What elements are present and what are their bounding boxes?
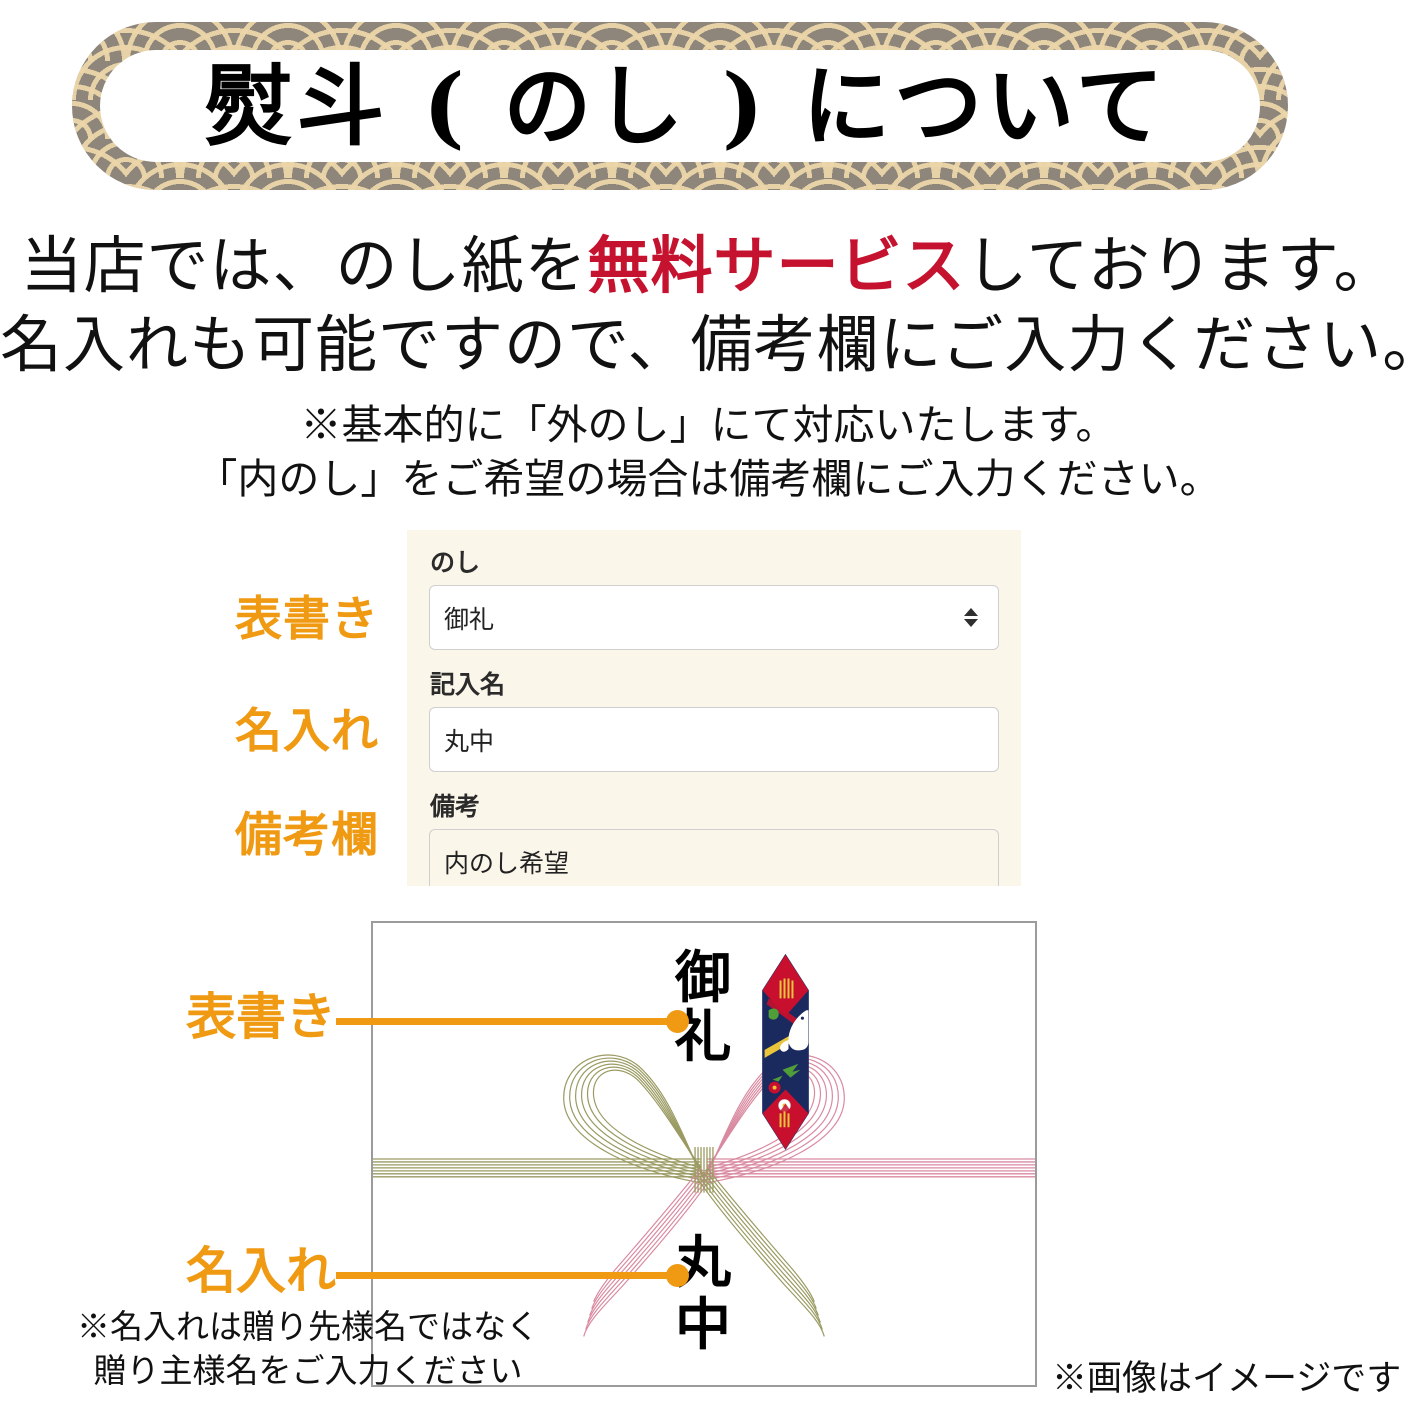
form-tag-bikou: 備考欄: [235, 812, 379, 859]
noshi-field-label: のし: [430, 548, 999, 578]
noshi-awabi-ornament: [763, 955, 809, 1149]
form-screenshot-clip: のし 御礼 記入名 丸中 備考 内のし希望: [0, 530, 1417, 886]
chevron-updown-icon: [962, 601, 980, 635]
bikou-textarea-value: 内のし希望: [444, 850, 569, 878]
callout-omotegaki-dot: [666, 1010, 689, 1033]
lead-paragraph: 当店では、のし紙を無料サービスしております。 名入れも可能ですので、備考欄にご入…: [0, 226, 1417, 385]
noshi-select[interactable]: 御礼: [429, 585, 999, 650]
bikou-field-label: 備考: [430, 792, 999, 822]
naire-note-line-1: ※名入れは贈り先様名ではなく: [58, 1305, 558, 1349]
page-root: 熨斗 ( のし ) について 当店では、のし紙を無料サービスしております。 名入…: [0, 0, 1417, 1417]
bikou-textarea[interactable]: 内のし希望: [429, 829, 999, 886]
note-line-1: ※基本的に「外のし」にて対応いたします。: [0, 398, 1417, 452]
lead-line-1: 当店では、のし紙を無料サービスしております。: [0, 226, 1417, 305]
header-banner: 熨斗 ( のし ) について: [72, 22, 1288, 190]
lead-highlight: 無料サービス: [587, 229, 965, 302]
noshi-select-value: 御礼: [444, 600, 494, 636]
lead-line-1-before: 当店では、のし紙を: [20, 229, 587, 302]
lead-line-1-after: しております。: [965, 229, 1396, 302]
callout-naire-label: 名入れ: [186, 1246, 336, 1296]
kinyumei-input-value: 丸中: [444, 722, 494, 758]
noshi-type-notes: ※基本的に「外のし」にて対応いたします。 「内のし」をご希望の場合は備考欄にご入…: [0, 398, 1417, 506]
order-form-panel: のし 御礼 記入名 丸中 備考 内のし希望: [407, 530, 1021, 886]
kinyumei-field-label: 記入名: [430, 670, 999, 700]
page-title: 熨斗 ( のし ) について: [204, 62, 1167, 150]
kinyumei-input[interactable]: 丸中: [429, 707, 999, 772]
callout-omotegaki-line: [336, 1018, 678, 1025]
image-disclaimer-note: ※画像はイメージです: [1052, 1362, 1401, 1397]
noshi-naire-text: 丸中: [663, 1233, 743, 1356]
form-tag-omotegaki: 表書き: [235, 596, 379, 643]
naire-note-line-2: 贈り主様名をご入力ください: [58, 1349, 558, 1393]
noshi-omotegaki-text: 御礼: [663, 949, 743, 1067]
callout-naire-dot: [666, 1264, 689, 1287]
lead-line-2: 名入れも可能ですので、備考欄にご入力ください。: [0, 305, 1417, 384]
callout-naire-line: [336, 1272, 678, 1279]
header-banner-inner: 熨斗 ( のし ) について: [100, 50, 1260, 162]
naire-instruction-note: ※名入れは贈り先様名ではなく 贈り主様名をご入力ください: [58, 1305, 558, 1393]
form-tag-naire: 名入れ: [235, 708, 379, 755]
callout-omotegaki-label: 表書き: [186, 992, 336, 1042]
note-line-2: 「内のし」をご希望の場合は備考欄にご入力ください。: [0, 452, 1417, 506]
